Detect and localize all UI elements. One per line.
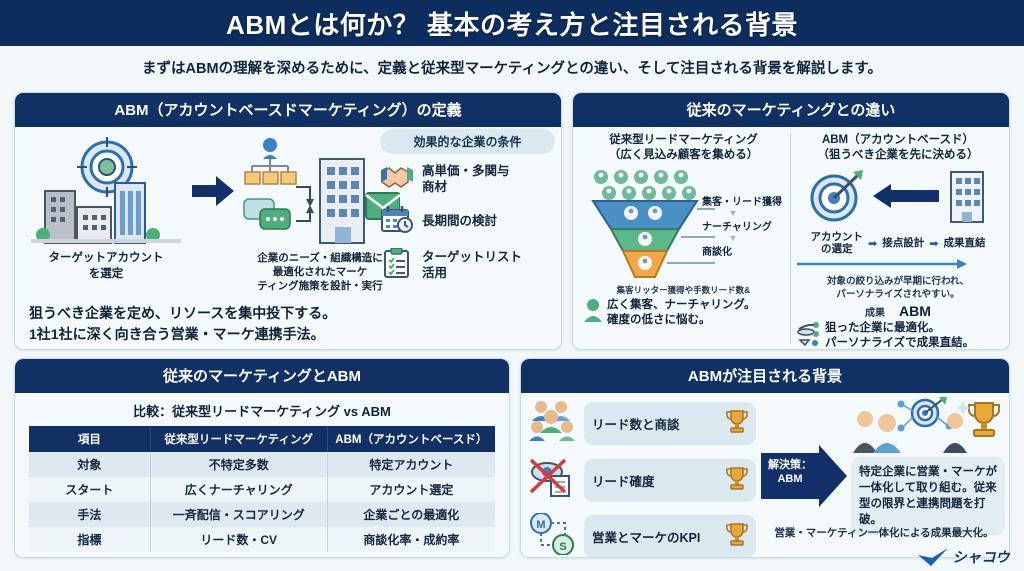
condition-item: 長期間の検討: [380, 205, 555, 238]
background-panel: ABMが注目される背景 リード数と商談: [520, 358, 1010, 558]
calendar-clock-icon: [380, 205, 414, 238]
funnel-stage-2-label: ナーチャリング: [702, 218, 782, 233]
condition-item: ターゲットリスト 活用: [380, 248, 555, 283]
funnel-illustration: 集客・リード獲得 ▼ ナーチャリング ▼ 商談化: [583, 167, 784, 285]
abm-title: ABM（アカウントベースド） （狙うべき企業を先に決める）: [797, 133, 999, 163]
funnel-stage-3-label: 商談化: [702, 243, 782, 258]
clipboard-checklist-icon: [380, 248, 414, 283]
definition-step-2-caption: 企業のニーズ・組織構造に 最適化されたマーケ ティング施策を設計・実行: [239, 251, 401, 294]
eye-crossed-icon: [529, 458, 577, 503]
progress-arrow-icon: [797, 259, 967, 269]
issue-item: M S 営業とマーケのKPI: [529, 513, 765, 558]
funnel-arrow-icon: ▼: [702, 208, 764, 218]
traditional-marketing-column: 従来型リードマーケティング （広く見込み顧客を集める）: [577, 133, 791, 344]
cell-abm: 特定アカウント: [327, 452, 495, 477]
solution-label: 解決策： ABM: [764, 459, 816, 487]
issues-list: リード数と商談: [529, 399, 765, 558]
table-caption: 比較：従来型リードマーケティング vs ABM: [29, 401, 495, 420]
people-group-icon: [529, 399, 577, 448]
condition-label: 高単価・多関与 商材: [422, 164, 510, 195]
definition-step-1-caption: ターゲットアカウント を選定: [25, 251, 187, 282]
header-banner: ABMとは何か？ 基本の考え方と注目される背景: [0, 0, 1024, 46]
traditional-title: 従来型リードマーケティング （広く見込み顧客を集める）: [583, 133, 784, 163]
solution-result: 特定企業に営業・マーケが一体化して取り組む。従来型の限界と連携問題を打破。: [851, 397, 1005, 535]
page-title: ABMとは何か？ 基本の考え方と注目される背景: [226, 5, 798, 42]
office-building-icon: [945, 168, 989, 224]
condition-label: 長期間の検討: [422, 214, 497, 230]
condition-item: 高単価・多関与 商材: [380, 164, 555, 195]
issue-label: リード数と商談: [592, 414, 680, 433]
comparison-table-panel: 従来のマーケティングとABM 比較：従来型リードマーケティング vs ABM 項…: [14, 358, 510, 558]
funnel-arrow-icon: ▼: [702, 233, 764, 243]
table-row: 対象 不特定多数 特定アカウント: [29, 452, 495, 477]
chat-bubbles-icon: [244, 199, 290, 229]
network-person-icon: [797, 321, 821, 350]
logo-text: シャコウ: [953, 547, 1010, 567]
definition-panel: ABM（アカウントベースドマーケティング）の定義: [14, 92, 562, 350]
issue-pill: リード確度: [584, 459, 756, 502]
network-target-icon: [898, 397, 953, 432]
background-footer: 営業・マーケティン一体化による成果最大化。: [759, 525, 1009, 540]
compare-panel-heading: 従来のマーケティングとの違い: [573, 93, 1009, 127]
target-account-illustration: [25, 135, 187, 247]
table-row: 手法 一斉配信・スコアリング 企業ごとの最適化: [29, 502, 495, 527]
person-icon: [583, 298, 603, 327]
conditions-title: 効果的な企業の条件: [380, 129, 555, 154]
funnel-stage-1-label: 集客・リード獲得: [702, 193, 782, 208]
cell-traditional: 広くナーチャリング: [150, 477, 327, 502]
abm-left-arrow-icon: [873, 184, 939, 208]
org-chart-icon: [245, 138, 296, 184]
definition-step-1: ターゲットアカウント を選定: [25, 135, 187, 282]
cell-traditional: 不特定多数: [150, 452, 327, 477]
handshake-icon: [380, 164, 414, 195]
column-header-traditional: 従来型リードマーケティング: [150, 426, 327, 452]
traditional-note: 集客リッター獲得や手数リード数&: [583, 285, 784, 296]
cell-traditional: リード数・CV: [150, 527, 327, 552]
definition-panel-heading: ABM（アカウントベースドマーケティング）の定義: [15, 93, 561, 127]
background-panel-heading: ABMが注目される背景: [521, 359, 1009, 393]
org-strategy-illustration: [239, 135, 401, 247]
issue-item: リード数と商談: [529, 399, 765, 448]
issue-pill: 営業とマーケのKPI: [584, 515, 756, 558]
compare-panel: 従来のマーケティングとの違い 従来型リードマーケティング （広く見込み顧客を集め…: [572, 92, 1010, 350]
funnel-stage-1: [593, 201, 697, 229]
column-header-abm: ABM（アカウントベースド）: [327, 426, 495, 452]
table-panel-heading: 従来のマーケティングとABM: [15, 359, 509, 393]
trophy-icon: [726, 466, 748, 495]
infographic-page: ABMとは何か？ 基本の考え方と注目される背景 まずはABMの理解を深めるために…: [0, 0, 1024, 571]
abm-illustration: [797, 163, 999, 229]
result-text: 特定企業に営業・マーケが一体化して取り組む。従来型の限界と連携問題を打破。: [851, 457, 1005, 535]
definition-summary: 狙うべき企業を定め、リソースを集中投下する。 1社1社に深く向き合う営業・マーケ…: [29, 303, 336, 344]
comparison-table: 項目 従来型リードマーケティング ABM（アカウントベースド） 対象 不特定多数…: [29, 426, 495, 552]
cell-abm: 企業ごとの最適化: [327, 502, 495, 527]
issue-item: リード確度: [529, 458, 765, 503]
trophy-icon: [969, 403, 999, 436]
abm-tag-small: 成果: [865, 304, 885, 319]
brand-logo: シャコウ: [918, 547, 1010, 567]
abm-step-1: アカウント の選定: [811, 231, 864, 256]
abm-column: ABM（アカウントベースド） （狙うべき企業を先に決める）: [791, 133, 1005, 344]
abm-step-2: 接点設計: [882, 237, 924, 250]
swoosh-check-icon: [918, 548, 948, 566]
definition-step-2: 企業のニーズ・組織構造に 最適化されたマーケ ティング施策を設計・実行: [239, 135, 401, 294]
issue-label: 営業とマーケのKPI: [592, 527, 700, 546]
target-arrow-icon: [807, 168, 867, 224]
trophy-icon: [726, 522, 748, 551]
cell-traditional: 一斉配信・スコアリング: [150, 502, 327, 527]
marketing-sales-link-icon: M S: [529, 513, 577, 558]
condition-label: ターゲットリスト 活用: [422, 250, 522, 281]
office-building-icon: [320, 159, 364, 243]
sparkle-icon: [956, 401, 970, 415]
svg-text:M: M: [536, 519, 545, 531]
abm-tag-big: ABM: [899, 303, 931, 319]
abm-bullet: 狙った企業に最適化。 パーソナライズで成果直結。: [825, 321, 974, 350]
issue-label: リード確度: [592, 471, 655, 490]
team-success-illustration: [851, 397, 1005, 453]
issue-pill: リード数と商談: [584, 402, 756, 445]
traditional-bullet: 広く集客、ナーチャリング。 確度の低さに悩む。: [607, 298, 755, 328]
effective-conditions-box: 効果的な企業の条件 高単価・多関与 商材: [380, 129, 555, 283]
table-row: スタート 広くナーチャリング アカウント選定: [29, 477, 495, 502]
cell-label: 対象: [29, 452, 150, 477]
svg-text:S: S: [559, 541, 566, 553]
abm-step-3: 成果直結: [943, 237, 985, 250]
cell-label: スタート: [29, 477, 150, 502]
page-subtitle: まずはABMの理解を深めるために、定義と従来型マーケティングとの違い、そして注目…: [0, 46, 1024, 87]
abm-description: 対象の絞り込みが早期に行われ、 パーソナライズされやすい。: [797, 276, 999, 302]
cell-abm: アカウント選定: [327, 477, 495, 502]
step-arrow-icon: ➡: [868, 237, 877, 250]
column-header-item: 項目: [29, 426, 150, 452]
cell-label: 指標: [29, 527, 150, 552]
cell-abm: 商談化率・成約率: [327, 527, 495, 552]
step-arrow-icon: ➡: [929, 237, 938, 250]
trophy-icon: [726, 409, 748, 438]
table-row: 指標 リード数・CV 商談化率・成約率: [29, 527, 495, 552]
team-icon: [853, 411, 967, 453]
flow-arrow-icon: [191, 135, 235, 247]
cell-label: 手法: [29, 502, 150, 527]
table-header-row: 項目 従来型リードマーケティング ABM（アカウントベースド）: [29, 426, 495, 452]
lead-people-icons: [594, 170, 696, 200]
